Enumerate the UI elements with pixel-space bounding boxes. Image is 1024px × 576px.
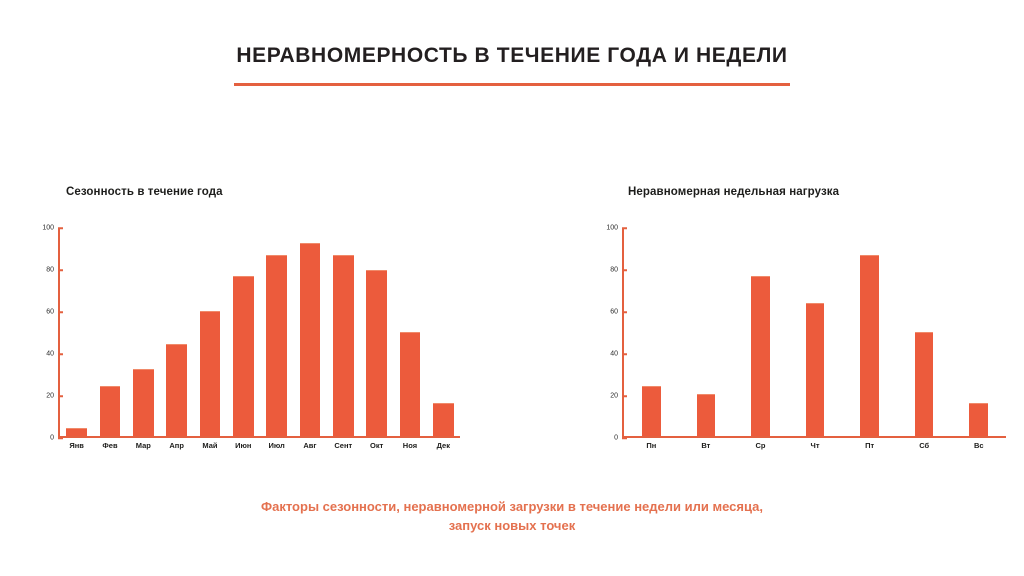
chart-title-weekly: Неравномерная недельная нагрузка bbox=[628, 186, 1006, 198]
x-axis-line-weekly bbox=[622, 436, 1006, 438]
x-axis-line-seasonality bbox=[58, 436, 460, 438]
y-tick-label-weekly-0: 0 bbox=[594, 435, 618, 442]
x-tick-label-weekly-Вс: Вс bbox=[951, 442, 1006, 450]
y-tick-label-weekly-20: 20 bbox=[594, 393, 618, 400]
x-tick-label-seasonality-Янв: Янв bbox=[60, 442, 93, 450]
y-tick-label-weekly-100: 100 bbox=[594, 225, 618, 232]
y-tick-mark-weekly-0 bbox=[622, 437, 627, 439]
y-tick-mark-seasonality-0 bbox=[58, 437, 63, 439]
y-tick-label-seasonality-80: 80 bbox=[30, 267, 54, 274]
bar-series-weekly bbox=[624, 228, 1006, 436]
bar-seasonality-Июл[interactable] bbox=[266, 255, 287, 436]
x-tick-label-weekly-Вт: Вт bbox=[679, 442, 734, 450]
x-tick-label-seasonality-Апр: Апр bbox=[160, 442, 193, 450]
y-tick-label-weekly-60: 60 bbox=[594, 309, 618, 316]
bar-seasonality-Дек[interactable] bbox=[433, 403, 454, 436]
x-tick-label-seasonality-Июл: Июл bbox=[260, 442, 293, 450]
bar-cell bbox=[60, 228, 93, 436]
chart-panel-weekly: Неравномерная недельная нагрузка 0204060… bbox=[596, 186, 1006, 460]
bar-cell bbox=[679, 228, 734, 436]
x-tick-label-weekly-Пн: Пн bbox=[624, 442, 679, 450]
slide-header: НЕРАВНОМЕРНОСТЬ В ТЕЧЕНИЕ ГОДА И НЕДЕЛИ bbox=[0, 44, 1024, 86]
x-tick-label-seasonality-Сент: Сент bbox=[327, 442, 360, 450]
bar-seasonality-Июн[interactable] bbox=[233, 276, 254, 436]
bar-cell bbox=[788, 228, 843, 436]
slide-caption: Факторы сезонности, неравномерной загруз… bbox=[162, 498, 862, 536]
title-underline-rule bbox=[234, 83, 790, 86]
bar-cell bbox=[360, 228, 393, 436]
caption-line-2: запуск новых точек bbox=[162, 517, 862, 536]
bar-cell bbox=[260, 228, 293, 436]
x-tick-label-seasonality-Окт: Окт bbox=[360, 442, 393, 450]
chart-seasonality: 020406080100 ЯнвФевМарАпрМайИюнИюлАвгСен… bbox=[30, 228, 460, 460]
slide-root: НЕРАВНОМЕРНОСТЬ В ТЕЧЕНИЕ ГОДА И НЕДЕЛИ … bbox=[0, 0, 1024, 576]
bar-seasonality-Мар[interactable] bbox=[133, 369, 154, 436]
bar-cell bbox=[733, 228, 788, 436]
bar-cell bbox=[624, 228, 679, 436]
bar-cell bbox=[127, 228, 160, 436]
chart-title-seasonality: Сезонность в течение года bbox=[66, 186, 460, 198]
bar-seasonality-Окт[interactable] bbox=[366, 270, 387, 436]
y-tick-label-seasonality-0: 0 bbox=[30, 435, 54, 442]
bar-seasonality-Май[interactable] bbox=[200, 311, 221, 436]
bar-cell bbox=[427, 228, 460, 436]
chart-panel-seasonality: Сезонность в течение года 020406080100 Я… bbox=[30, 186, 460, 460]
x-tick-label-seasonality-Май: Май bbox=[193, 442, 226, 450]
bar-cell bbox=[393, 228, 426, 436]
bar-series-seasonality bbox=[60, 228, 460, 436]
bar-seasonality-Фев[interactable] bbox=[100, 386, 121, 436]
bar-seasonality-Сент[interactable] bbox=[333, 255, 354, 436]
bar-weekly-Пт[interactable] bbox=[860, 255, 879, 436]
x-tick-label-seasonality-Фев: Фев bbox=[93, 442, 126, 450]
x-tick-label-seasonality-Авг: Авг bbox=[293, 442, 326, 450]
bar-cell bbox=[327, 228, 360, 436]
bar-seasonality-Апр[interactable] bbox=[166, 344, 187, 436]
x-tick-label-seasonality-Ноя: Ноя bbox=[393, 442, 426, 450]
x-tick-label-weekly-Сб: Сб bbox=[897, 442, 952, 450]
x-tick-label-weekly-Пт: Пт bbox=[842, 442, 897, 450]
bar-cell bbox=[160, 228, 193, 436]
x-axis-labels-weekly: ПнВтСрЧтПтСбВс bbox=[624, 442, 1006, 450]
caption-line-1: Факторы сезонности, неравномерной загруз… bbox=[162, 498, 862, 517]
x-tick-label-seasonality-Мар: Мар bbox=[127, 442, 160, 450]
bar-cell bbox=[193, 228, 226, 436]
plot-area-weekly: 020406080100 bbox=[622, 228, 1006, 438]
x-tick-label-weekly-Ср: Ср bbox=[733, 442, 788, 450]
y-tick-label-seasonality-20: 20 bbox=[30, 393, 54, 400]
x-tick-label-seasonality-Июн: Июн bbox=[227, 442, 260, 450]
bar-seasonality-Янв[interactable] bbox=[66, 428, 87, 436]
bar-weekly-Вс[interactable] bbox=[969, 403, 988, 436]
bar-weekly-Сб[interactable] bbox=[915, 332, 934, 436]
plot-area-seasonality: 020406080100 bbox=[58, 228, 460, 438]
bar-cell bbox=[842, 228, 897, 436]
y-tick-label-weekly-40: 40 bbox=[594, 351, 618, 358]
y-tick-label-seasonality-100: 100 bbox=[30, 225, 54, 232]
y-tick-label-seasonality-60: 60 bbox=[30, 309, 54, 316]
bar-weekly-Чт[interactable] bbox=[806, 303, 825, 436]
chart-weekly: 020406080100 ПнВтСрЧтПтСбВс bbox=[596, 228, 1006, 460]
bar-seasonality-Авг[interactable] bbox=[300, 243, 321, 436]
y-tick-label-seasonality-40: 40 bbox=[30, 351, 54, 358]
x-axis-labels-seasonality: ЯнвФевМарАпрМайИюнИюлАвгСентОктНояДек bbox=[60, 442, 460, 450]
bar-weekly-Вт[interactable] bbox=[697, 394, 716, 436]
bar-weekly-Ср[interactable] bbox=[751, 276, 770, 436]
bar-cell bbox=[93, 228, 126, 436]
x-tick-label-seasonality-Дек: Дек bbox=[427, 442, 460, 450]
x-tick-label-weekly-Чт: Чт bbox=[788, 442, 843, 450]
bar-cell bbox=[227, 228, 260, 436]
bar-cell bbox=[293, 228, 326, 436]
bar-cell bbox=[897, 228, 952, 436]
bar-seasonality-Ноя[interactable] bbox=[400, 332, 421, 436]
y-tick-label-weekly-80: 80 bbox=[594, 267, 618, 274]
page-title: НЕРАВНОМЕРНОСТЬ В ТЕЧЕНИЕ ГОДА И НЕДЕЛИ bbox=[0, 44, 1024, 67]
bar-weekly-Пн[interactable] bbox=[642, 386, 661, 436]
bar-cell bbox=[951, 228, 1006, 436]
